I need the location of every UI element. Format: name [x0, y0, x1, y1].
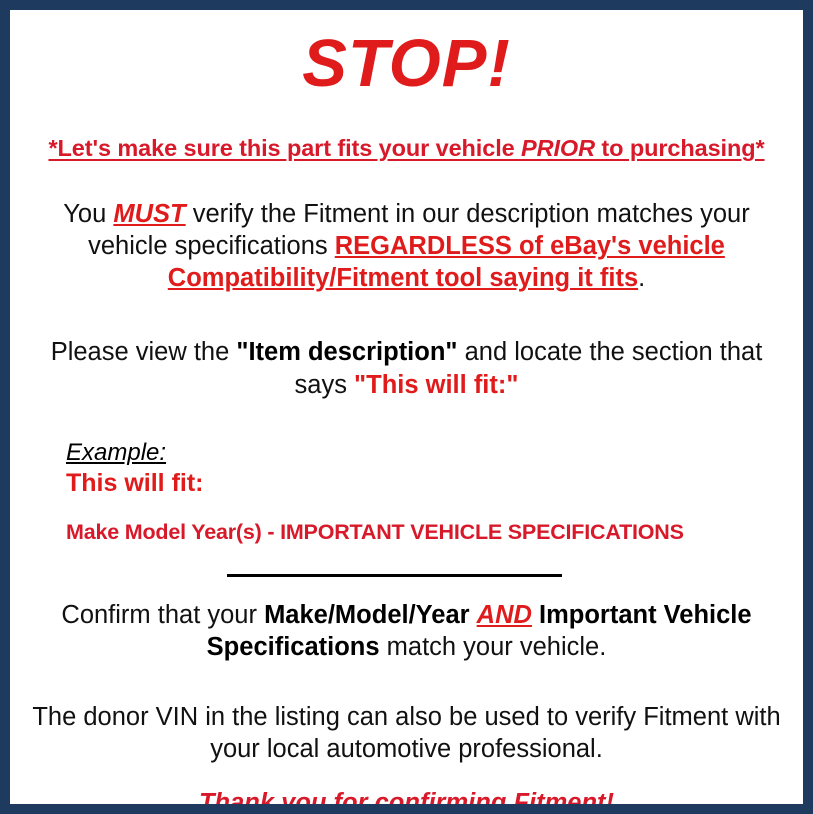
this-will-fit-emphasis: "This will fit:" [354, 371, 518, 399]
item-description-emphasis: "Item description" [236, 338, 457, 366]
tagline-pre: *Let's make sure this part fits your veh… [48, 135, 521, 161]
example-label: Example: [66, 439, 166, 467]
must-part1: You [63, 200, 113, 228]
thank-you-message: Thank you for confirming Fitment! [22, 789, 791, 814]
itemdesc-part1: Please view the [51, 338, 237, 366]
confirm-part1: Confirm that your [61, 601, 264, 629]
fitment-notice-card: STOP! *Let's make sure this part fits yo… [0, 0, 813, 814]
divider-line [227, 574, 562, 577]
page-title: STOP! [22, 30, 791, 97]
tagline-emphasis-prior: PRIOR [521, 135, 595, 161]
divider [22, 567, 791, 579]
confirm-paragraph: Confirm that your Make/Model/Year AND Im… [22, 599, 791, 663]
vin-paragraph: The donor VIN in the listing can also be… [22, 701, 791, 765]
example-block: Example: This will fit: Make Model Year(… [22, 439, 791, 545]
item-description-paragraph: Please view the "Item description" and l… [22, 336, 791, 400]
confirm-part2 [470, 601, 477, 629]
must-emphasis: MUST [113, 200, 185, 228]
must-verify-paragraph: You MUST verify the Fitment in our descr… [22, 198, 791, 294]
example-spec-line: Make Model Year(s) - IMPORTANT VEHICLE S… [66, 520, 791, 545]
tagline: *Let's make sure this part fits your veh… [22, 135, 791, 162]
confirm-part4: match your vehicle. [380, 633, 607, 661]
make-model-year-emphasis: Make/Model/Year [264, 601, 470, 629]
and-emphasis: AND [477, 601, 532, 629]
confirm-part3 [532, 601, 539, 629]
must-part3: . [638, 264, 645, 292]
tagline-post: to purchasing* [595, 135, 765, 161]
example-label-row: Example: [66, 439, 791, 467]
notice-content: STOP! *Let's make sure this part fits yo… [10, 30, 803, 814]
example-fit-heading: This will fit: [66, 469, 791, 498]
